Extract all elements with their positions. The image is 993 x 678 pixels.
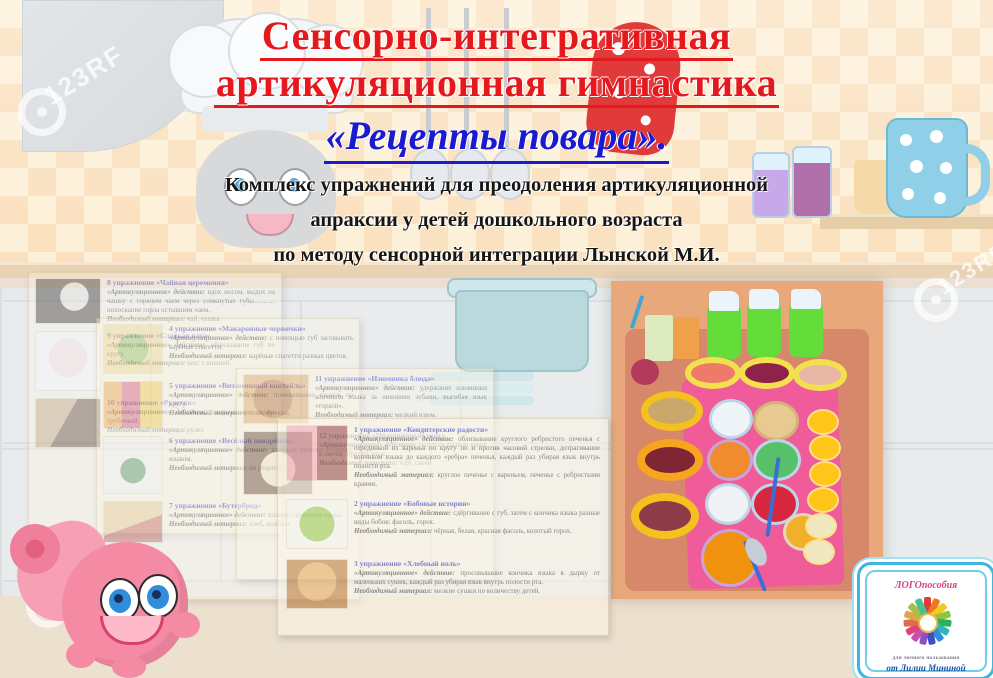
title-line-1: Сенсорно-интегративная xyxy=(0,14,993,61)
watermark-ring-2 xyxy=(914,278,958,322)
bowl-cabbage xyxy=(709,399,753,439)
green-beans-photo xyxy=(286,499,348,549)
exercise-action: «Артикуляционное» действие: сдёргивание … xyxy=(354,509,600,527)
plate-watermelon xyxy=(685,357,741,389)
exercise-heading: 11 упражнение «Изюминка блюда» xyxy=(315,374,487,383)
lemon-slice-1 xyxy=(807,409,839,435)
exercise-item: 4 упражнение «Макаронные червячки» «Арти… xyxy=(103,324,353,374)
material-text: варёные спагетти разных цветов. xyxy=(249,352,347,360)
logo-title: ЛОГОпособия xyxy=(860,580,992,591)
mascot-foot xyxy=(112,656,146,678)
subtitle-line-2: апраксии у детей дошкольного возраста xyxy=(0,208,993,234)
exercise-action: «Артикуляционное» действие: облизывание … xyxy=(354,435,600,471)
dried-fruit-mix-photo xyxy=(243,374,309,424)
straw xyxy=(630,295,644,329)
mascot-pompom xyxy=(10,524,60,574)
pink-cartoon-character xyxy=(8,520,198,678)
exercise-action: «Артикуляционное» действие: с помощью гу… xyxy=(169,334,353,352)
bowl-bagels xyxy=(753,401,799,441)
exercise-item: 1 упражнение «Кондитерские радости» «Арт… xyxy=(286,425,600,489)
action-label: «Артикуляционное» действие: xyxy=(354,435,454,443)
logo-author: от Лилии Мининой xyxy=(860,663,992,673)
cooking-pot xyxy=(455,290,589,372)
exercise-material: Необходимый материал: чёрная, белая, кра… xyxy=(354,527,600,536)
juice-box-1 xyxy=(645,315,673,361)
title-line-1-text: Сенсорно-интегративная xyxy=(260,14,733,61)
color-pencil-pinwheel-icon xyxy=(898,593,954,649)
logo-subtitle: для личного пользования xyxy=(860,655,992,661)
plate-radish xyxy=(793,359,847,391)
cupcake-with-cherry-photo xyxy=(35,331,101,391)
mascot-paw-right xyxy=(170,612,200,638)
mascot-paw-left xyxy=(66,642,96,668)
lemon-slice-4 xyxy=(807,487,839,513)
juices-and-fruit-photo xyxy=(103,381,163,429)
apple xyxy=(631,359,659,385)
bowl-feta xyxy=(705,483,751,525)
bagels-basket-photo xyxy=(286,559,348,609)
exercise-action: «Артикуляционное» действие: удержание из… xyxy=(315,384,487,411)
exercise-heading: 1 упражнение «Кондитерские радости» xyxy=(354,425,600,434)
green-cup-1 xyxy=(707,307,741,359)
green-cup-2 xyxy=(747,305,781,357)
green-cup-3 xyxy=(789,305,823,357)
teapot-and-cakes-photo xyxy=(35,278,101,324)
exercise-heading: 8 упражнение «Чайная церемония» xyxy=(107,278,275,287)
material-label: Необходимый материал: xyxy=(169,352,247,360)
exercise-item: 2 упражнение «Бобовые истории» «Артикуля… xyxy=(286,499,600,549)
exercise-material: Необходимый материал: варёные спагетти р… xyxy=(169,352,353,361)
title-line-3: «Рецепты повара». xyxy=(0,112,993,164)
logo-badge[interactable]: ЛОГОпособия для личного пользования от Л… xyxy=(857,562,993,678)
plate-beetroot xyxy=(739,357,795,389)
action-label: «Артикуляционное» действие: xyxy=(107,288,205,296)
plate-seeds xyxy=(641,391,703,431)
exercise-item: 11 упражнение «Изюминка блюда» «Артикуля… xyxy=(243,374,487,424)
exercise-card-main[interactable]: 1 упражнение «Кондитерские радости» «Арт… xyxy=(277,418,609,636)
title-line-2: артикуляционная гимнастика xyxy=(0,61,993,108)
slide-canvas: 123RF 123RF 123RF Сенсорно-интегративная… xyxy=(0,0,993,678)
lemon-slice-2 xyxy=(809,435,841,461)
chef-boy-with-pie-photo xyxy=(103,436,163,494)
subtitle-line-3: по методу сенсорной интеграции Лынской М… xyxy=(0,243,993,269)
action-label: «Артикуляционное» действие: xyxy=(169,334,267,342)
material-label: Необходимый материал: xyxy=(354,471,434,479)
action-label: «Артикуляционное» действие: xyxy=(354,569,455,577)
exercise-action: «Артикуляционное» действие: просовывание… xyxy=(354,569,600,587)
action-label: «Артикуляционное» действие: xyxy=(315,384,415,392)
material-label: Необходимый материал: xyxy=(354,527,432,535)
title-block: Сенсорно-интегративная артикуляционная г… xyxy=(0,14,993,269)
exercise-heading: 3 упражнение «Хлебный ноль» xyxy=(354,559,600,568)
material-label: Необходимый материал: xyxy=(354,587,432,595)
exercise-material: Необходимый материал: круглое печенье с … xyxy=(354,471,600,489)
plate-beans-red xyxy=(637,439,703,481)
bowl-carrot xyxy=(707,439,753,481)
lemon-slice-6 xyxy=(803,539,835,565)
mascot-eye-right xyxy=(138,574,178,618)
title-line-2-text: артикуляционная гимнастика xyxy=(214,61,779,108)
sensory-food-tray-photo xyxy=(611,281,883,599)
chocolate-roll-photo xyxy=(35,398,101,448)
exercise-material: Необходимый материал: мелкие сушки по ко… xyxy=(354,587,600,596)
lemon-slice-3 xyxy=(809,461,841,487)
subtitle-line-1: Комплекс упражнений для преодоления арти… xyxy=(0,173,993,199)
spaghetti-bowl-photo xyxy=(103,324,163,374)
exercise-heading: 2 упражнение «Бобовые истории» xyxy=(354,499,600,508)
juice-box-2 xyxy=(673,317,699,359)
lemon-slice-5 xyxy=(805,513,837,539)
exercise-item: 3 упражнение «Хлебный ноль» «Артикуляцио… xyxy=(286,559,600,609)
plate-mixed xyxy=(631,493,699,539)
material-text: чёрная, белая, красная фасоль, колотый г… xyxy=(434,527,572,535)
exercise-heading: 4 упражнение «Макаронные червячки» xyxy=(169,324,353,333)
cakes-and-cupcakes-photo xyxy=(286,425,348,481)
exercise-action: «Артикуляционное» действие: вдох носом, … xyxy=(107,288,275,315)
title-line-3-text: «Рецепты повара». xyxy=(324,112,670,164)
material-text: мелкие сушки по количеству детей. xyxy=(434,587,540,595)
action-label: «Артикуляционное» действие: xyxy=(354,509,451,517)
